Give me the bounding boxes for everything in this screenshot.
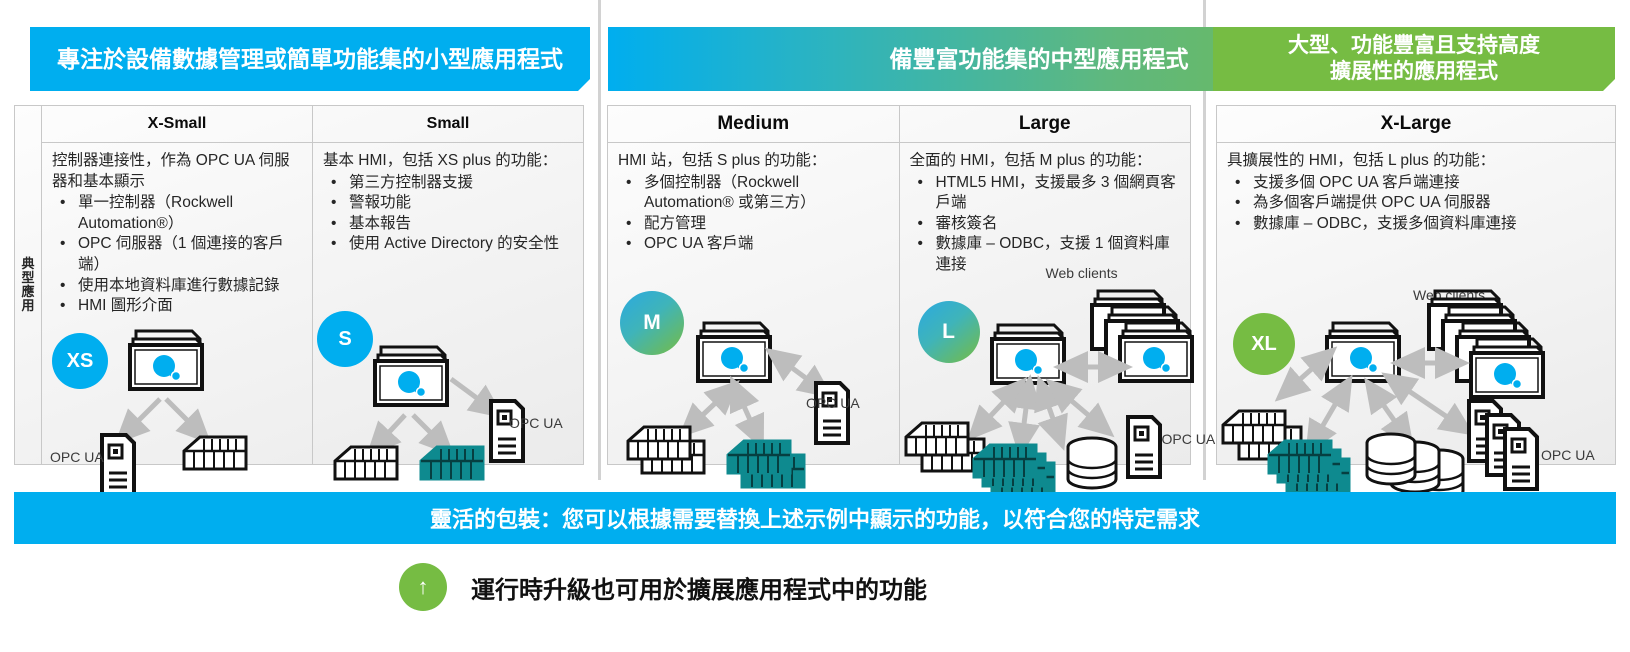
caption-opc-ua-xl: OPC UA	[1541, 447, 1595, 463]
up-arrow-glyph: ↑	[418, 574, 429, 600]
runtime-upgrade-note: ↑ 運行時升級也可用於擴展應用程式中的功能	[399, 557, 1099, 617]
feature-item: OPC 伺服器（1 個連接的客戶端）	[52, 234, 302, 275]
hmi-screen-icon	[698, 323, 770, 381]
feature-list-x-large: 支援多個 OPC UA 客戶端連接 為多個客戶端提供 OPC UA 伺服器 數據…	[1227, 173, 1605, 235]
feature-item: OPC UA 客戶端	[618, 234, 889, 255]
feature-item: 配方管理	[618, 214, 889, 235]
feature-item: 為多個客戶端提供 OPC UA 伺服器	[1227, 193, 1605, 214]
size-badge-m: M	[620, 291, 684, 355]
column-title-large: Large	[900, 106, 1191, 143]
card-small-group: 典 型 應 用 X-Small 控制器連接性，作為 OPC UA 伺服器和基本顯…	[14, 105, 584, 465]
size-badge-m-label: M	[643, 311, 661, 335]
feature-item: 單一控制器（Rockwell Automation®）	[52, 193, 302, 234]
controller-stack-icon	[628, 427, 704, 473]
column-medium: Medium HMI 站，包括 S plus 的功能： 多個控制器（Rockwe…	[608, 106, 900, 464]
opc-ua-server-icon	[491, 401, 523, 461]
third-party-controller-stack-icon	[974, 445, 1054, 495]
segment-banner-small: 專注於設備數據管理或簡單功能集的小型應用程式	[30, 27, 590, 91]
third-party-controller-stack-icon	[1269, 441, 1349, 491]
third-party-controller-icon	[421, 447, 483, 479]
database-icon	[1068, 438, 1116, 488]
column-body-small: 基本 HMI，包括 XS plus 的功能： 第三方控制器支援 警報功能 基本報…	[313, 143, 583, 464]
runtime-upgrade-label: 運行時升級也可用於擴展應用程式中的功能	[471, 570, 927, 605]
rail-char-0: 典	[15, 257, 41, 271]
feature-item: 警報功能	[323, 193, 573, 214]
feature-list-small: 第三方控制器支援 警報功能 基本報告 使用 Active Directory 的…	[323, 173, 573, 255]
lead-large: 全面的 HMI，包括 M plus 的功能：	[910, 151, 1181, 172]
hmi-screen-icon	[992, 325, 1064, 383]
segment-banner-large-label: 大型、功能豐富且支持高度 擴展性的應用程式	[1288, 33, 1540, 86]
hmi-screen-icon	[375, 347, 447, 405]
feature-item: 支援多個 OPC UA 客戶端連接	[1227, 173, 1605, 194]
feature-item: HTML5 HMI，支援最多 3 個網頁客戶端	[910, 173, 1181, 214]
column-body-x-large: 具擴展性的 HMI，包括 L plus 的功能： 支援多個 OPC UA 客戶端…	[1217, 143, 1615, 464]
caption-opc-ua-l: OPC UA	[1162, 431, 1216, 447]
caption-opc-ua-s: OPC UA	[509, 415, 563, 431]
size-badge-s: S	[317, 311, 373, 367]
slide-canvas: 專注於設備數據管理或簡單功能集的小型應用程式 備豐富功能集的中型應用程式 大型、…	[0, 0, 1630, 652]
feature-item: HMI 圖形介面	[52, 296, 302, 317]
flexible-packaging-label: 靈活的包裝：您可以根據需要替換上述示例中顯示的功能，以符合您的特定需求	[430, 502, 1200, 534]
column-x-small: X-Small 控制器連接性，作為 OPC UA 伺服器和基本顯示 單一控制器（…	[42, 106, 313, 464]
size-badge-s-label: S	[338, 328, 351, 351]
column-small: Small 基本 HMI，包括 XS plus 的功能： 第三方控制器支援 警報…	[313, 106, 583, 464]
feature-item: 基本報告	[323, 214, 573, 235]
lead-medium: HMI 站，包括 S plus 的功能：	[618, 151, 889, 172]
flexible-packaging-bar: 靈活的包裝：您可以根據需要替換上述示例中顯示的功能，以符合您的特定需求	[14, 492, 1616, 544]
feature-item: 第三方控制器支援	[323, 173, 573, 194]
feature-item: 數據庫 – ODBC，支援多個資料庫連接	[1227, 214, 1605, 235]
feature-item: 數據庫 – ODBC，支援 1 個資料庫連接	[910, 234, 1181, 275]
feature-item: 多個控制器（Rockwell Automation® 或第三方）	[618, 173, 889, 214]
controller-icon	[335, 447, 397, 479]
rail-char-1: 型	[15, 271, 41, 285]
size-badge-xl: XL	[1233, 313, 1295, 375]
column-title-x-large: X-Large	[1217, 106, 1615, 143]
caption-opc-ua-m: OPC UA	[806, 395, 860, 411]
column-title-small: Small	[313, 106, 583, 143]
opc-ua-server-stack-icon	[1469, 401, 1537, 489]
caption-opc-ua-xs: OPC UA	[50, 449, 104, 465]
hmi-screen-icon	[130, 331, 202, 389]
lead-small: 基本 HMI，包括 XS plus 的功能：	[323, 151, 573, 172]
column-body-medium: HMI 站，包括 S plus 的功能： 多個控制器（Rockwell Auto…	[608, 143, 899, 464]
hmi-screen-icon	[1327, 323, 1399, 381]
feature-item: 審核簽名	[910, 214, 1181, 235]
column-title-x-small: X-Small	[42, 106, 312, 143]
size-badge-xs: XS	[52, 333, 108, 389]
column-x-large: X-Large 具擴展性的 HMI，包括 L plus 的功能： 支援多個 OP…	[1217, 106, 1615, 464]
size-badge-l-label: L	[942, 320, 955, 344]
column-large: Large 全面的 HMI，包括 M plus 的功能： HTML5 HMI，支…	[900, 106, 1191, 464]
feature-list-medium: 多個控制器（Rockwell Automation® 或第三方） 配方管理 OP…	[618, 173, 889, 255]
feature-list-large: HTML5 HMI，支援最多 3 個網頁客戶端 審核簽名 數據庫 – ODBC，…	[910, 173, 1181, 276]
web-clients-stack-icon	[1092, 291, 1192, 381]
controller-icon	[184, 437, 246, 469]
feature-list-x-small: 單一控制器（Rockwell Automation®） OPC 伺服器（1 個連…	[52, 193, 302, 317]
web-clients-stack-icon	[1429, 291, 1543, 397]
card-medium-group: Medium HMI 站，包括 S plus 的功能： 多個控制器（Rockwe…	[607, 105, 1191, 465]
rail-char-3: 用	[15, 299, 41, 313]
segment-banner-medium-label: 備豐富功能集的中型應用程式	[890, 45, 1189, 74]
typical-application-label: 典 型 應 用	[15, 257, 41, 313]
size-badge-xl-label: XL	[1251, 333, 1277, 356]
opc-ua-server-icon	[1128, 417, 1160, 477]
group-divider-1	[598, 0, 601, 480]
lead-x-large: 具擴展性的 HMI，包括 L plus 的功能：	[1227, 151, 1605, 172]
up-arrow-icon: ↑	[399, 563, 447, 611]
column-title-medium: Medium	[608, 106, 899, 143]
size-badge-xs-label: XS	[67, 350, 94, 373]
controller-stack-icon	[1223, 411, 1301, 459]
rail-char-2: 應	[15, 285, 41, 299]
card-xlarge-group: X-Large 具擴展性的 HMI，包括 L plus 的功能： 支援多個 OP…	[1216, 105, 1616, 465]
database-stack-icon	[1367, 434, 1463, 500]
caption-web-clients-xl: Web clients	[1413, 287, 1485, 303]
opc-ua-server-icon	[816, 383, 848, 443]
size-badge-l: L	[918, 301, 980, 363]
opc-ua-server-icon	[102, 435, 134, 495]
feature-item: 使用 Active Directory 的安全性	[323, 234, 573, 255]
segment-banner-small-label: 專注於設備數據管理或簡單功能集的小型應用程式	[57, 45, 563, 74]
controller-stack-icon	[906, 423, 984, 471]
third-party-controller-stack-icon	[728, 441, 804, 487]
segment-banner-large: 大型、功能豐富且支持高度 擴展性的應用程式	[1213, 27, 1615, 91]
column-body-large: 全面的 HMI，包括 M plus 的功能： HTML5 HMI，支援最多 3 …	[900, 143, 1191, 464]
lead-x-small: 控制器連接性，作為 OPC UA 伺服器和基本顯示	[52, 151, 302, 192]
typical-application-rail: 典 型 應 用	[15, 106, 42, 464]
column-body-x-small: 控制器連接性，作為 OPC UA 伺服器和基本顯示 單一控制器（Rockwell…	[42, 143, 312, 464]
feature-item: 使用本地資料庫進行數據記錄	[52, 276, 302, 297]
